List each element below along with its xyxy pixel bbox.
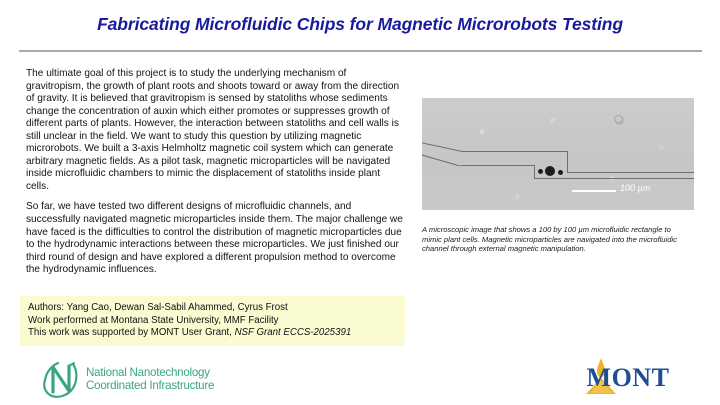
channel-wall-lower-horizontal-2 — [534, 178, 694, 179]
figure-caption: A microscopic image that shows a 100 by … — [422, 225, 690, 254]
authors-line: Authors: Yang Cao, Dewan Sal-Sabil Ahamm… — [28, 302, 405, 315]
debris-speck — [614, 115, 623, 123]
scale-bar — [572, 190, 616, 192]
microscope-image: 100 µm — [422, 98, 694, 210]
title-block: Fabricating Microfluidic Chips for Magne… — [0, 14, 720, 35]
nnci-wordmark-line-1: National Nanotechnology — [86, 366, 214, 380]
micrograph-background — [422, 98, 694, 210]
affiliation-line: Work performed at Montana State Universi… — [28, 315, 405, 328]
paragraph-2: So far, we have tested two different des… — [26, 201, 404, 276]
microparticle — [538, 169, 543, 174]
channel-wall-upper-horizontal-2 — [567, 172, 694, 173]
page-title: Fabricating Microfluidic Chips for Magne… — [0, 14, 720, 35]
mont-logo: MONT — [578, 357, 678, 401]
nnci-logo: National Nanotechnology Coordinated Infr… — [43, 358, 214, 400]
microparticle — [558, 170, 563, 175]
channel-wall-lower-step — [534, 165, 535, 179]
channel-wall-lower-horizontal — [461, 165, 535, 166]
grant-number: NSF Grant ECCS-2025391 — [235, 327, 352, 338]
authors-acknowledgement-box: Authors: Yang Cao, Dewan Sal-Sabil Ahamm… — [20, 296, 405, 346]
funding-prefix: This work was supported by MONT User Gra… — [28, 327, 235, 338]
channel-wall-upper-horizontal — [461, 151, 568, 152]
nnci-emblem-icon — [43, 358, 83, 400]
title-divider — [19, 50, 702, 52]
body-text-column: The ultimate goal of this project is to … — [26, 68, 404, 285]
channel-wall-upper-step — [567, 151, 568, 173]
nnci-wordmark: National Nanotechnology Coordinated Infr… — [86, 366, 214, 393]
funding-line: This work was supported by MONT User Gra… — [28, 327, 405, 340]
paragraph-1: The ultimate goal of this project is to … — [26, 68, 404, 193]
figure-panel: 100 µm A microscopic image that shows a … — [422, 98, 694, 254]
microparticle — [545, 166, 555, 176]
nnci-wordmark-line-2: Coordinated Infrastructure — [86, 379, 214, 393]
scale-bar-label: 100 µm — [620, 183, 650, 193]
mont-wordmark: MONT — [578, 363, 678, 393]
poster-slide: Fabricating Microfluidic Chips for Magne… — [0, 0, 720, 405]
